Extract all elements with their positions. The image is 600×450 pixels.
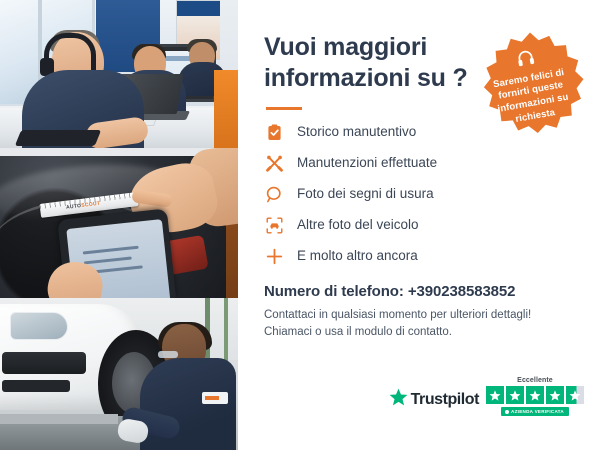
check-dot-icon xyxy=(505,410,509,414)
lift-arm xyxy=(0,414,118,424)
phone-line: Numero di telefono: +390238583852 xyxy=(264,283,576,300)
star-filled xyxy=(546,386,564,404)
feature-label: E molto altro ancora xyxy=(297,248,418,264)
photo-column: AUTOSCOUT xyxy=(0,0,238,450)
verified-badge-label: AZIENDA VERIFICATA xyxy=(511,409,564,414)
call-center-photo xyxy=(0,0,238,148)
badge-text: Saremo felici di fornirti queste informa… xyxy=(485,66,578,130)
mechanic-wheel-photo xyxy=(0,298,238,450)
star-filled xyxy=(506,386,524,404)
trustpilot-rating[interactable]: Trustpilot Eccellente xyxy=(389,377,584,416)
car-damage-inspection-photo: AUTOSCOUT xyxy=(0,148,238,298)
headset-icon xyxy=(514,48,537,73)
contact-copy-line-1: Contattaci in qualsiasi momento per ulte… xyxy=(264,307,564,324)
mechanic xyxy=(132,322,236,450)
car-grille xyxy=(2,352,86,374)
feature-item-wear-photos: Foto dei segni di usura xyxy=(264,184,524,204)
trustpilot-score-block: Eccellente xyxy=(486,377,584,416)
content-panel: Vuoi maggiori informazioni su ? Saremo f… xyxy=(238,0,600,450)
feature-label: Manutenzioni effettuate xyxy=(297,155,437,171)
trustpilot-logo: Trustpilot xyxy=(389,388,479,416)
scan-car-icon xyxy=(264,215,284,235)
feature-label: Foto dei segni di usura xyxy=(297,186,434,202)
car-headlight xyxy=(10,312,68,340)
feature-item-more: E molto altro ancora xyxy=(264,246,524,266)
plus-icon xyxy=(264,246,284,266)
tools-cross-icon xyxy=(264,153,284,173)
magnifier-icon xyxy=(264,184,284,204)
contact-copy: Contattaci in qualsiasi momento per ulte… xyxy=(264,307,564,342)
trustpilot-rating-label: Eccellente xyxy=(517,377,553,384)
contact-block: Numero di telefono: +390238583852 Contat… xyxy=(264,283,576,342)
trustpilot-star-icon xyxy=(389,388,408,411)
phone-label: Numero di telefono: xyxy=(264,283,404,300)
clipboard-check-icon xyxy=(264,122,284,142)
phone-number[interactable]: +390238583852 xyxy=(408,283,516,300)
orange-equipment xyxy=(214,70,238,148)
star-partial xyxy=(566,386,584,404)
feature-label: Storico manutentivo xyxy=(297,124,416,140)
car-lower-grille xyxy=(2,380,70,392)
feature-item-vehicle-photos: Altre foto del veicolo xyxy=(264,215,524,235)
star-filled xyxy=(486,386,504,404)
title-underline-divider xyxy=(266,107,302,110)
page-title: Vuoi maggiori informazioni su ? xyxy=(264,32,474,93)
callout-badge: Saremo felici di fornirti queste informa… xyxy=(474,30,586,142)
info-request-banner: AUTOSCOUT xyxy=(0,0,600,450)
desk-tablet xyxy=(15,130,101,146)
feature-item-maintenance-performed: Manutenzioni effettuate xyxy=(264,153,524,173)
verified-company-badge: AZIENDA VERIFICATA xyxy=(501,407,569,416)
feature-label: Altre foto del veicolo xyxy=(297,217,419,233)
trustpilot-wordmark: Trustpilot xyxy=(411,391,479,409)
star-filled xyxy=(526,386,544,404)
contact-copy-line-2: Chiamaci o usa il modulo di contatto. xyxy=(264,324,564,341)
trustpilot-stars xyxy=(486,386,584,404)
